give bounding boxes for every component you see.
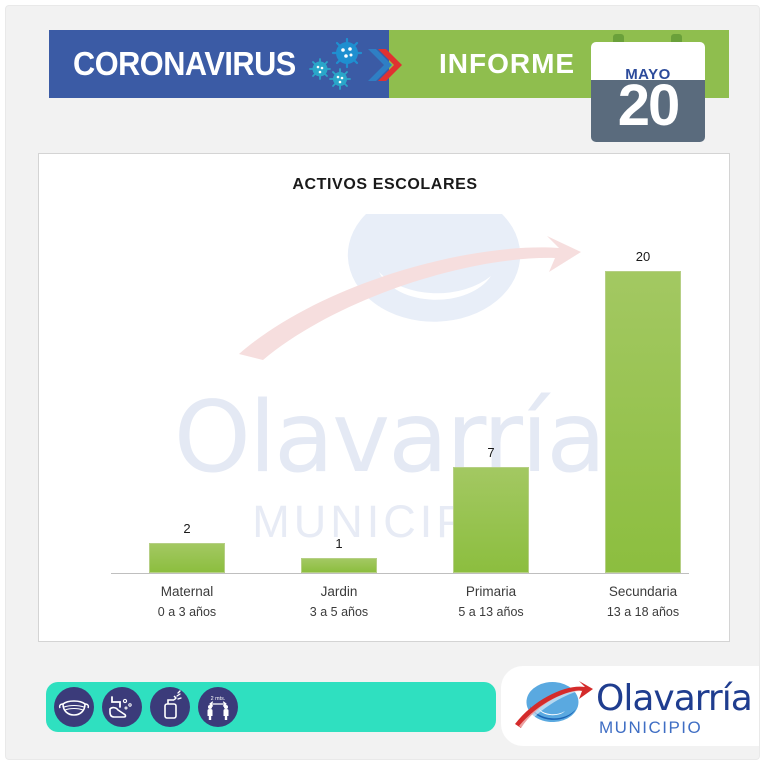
x-label-primaria-name: Primaria <box>415 582 567 602</box>
report-canvas: CORONAVIRUS <box>5 5 760 760</box>
x-label-secundaria-range: 13 a 18 años <box>567 602 719 622</box>
bar-maternal[interactable] <box>111 543 263 573</box>
bar-value-primaria: 7 <box>415 445 567 460</box>
face-mask-icon[interactable] <box>54 687 94 727</box>
x-label-secundaria: Secundaria 13 a 18 años <box>567 582 719 622</box>
logo-wordmark: Olavarría <box>596 678 752 719</box>
bar-rect-jardin[interactable] <box>301 558 377 573</box>
x-label-maternal: Maternal 0 a 3 años <box>111 582 263 622</box>
x-label-jardin-name: Jardin <box>263 582 415 602</box>
header-title-coronavirus: CORONAVIRUS <box>73 45 296 83</box>
bar-value-jardin: 1 <box>263 536 415 551</box>
x-label-secundaria-name: Secundaria <box>567 582 719 602</box>
bar-jardin[interactable] <box>263 555 415 573</box>
bar-rect-secundaria[interactable] <box>605 271 681 573</box>
x-axis-labels: Maternal 0 a 3 años Jardin 3 a 5 años Pr… <box>111 582 719 622</box>
report-image: CORONAVIRUS <box>0 0 765 765</box>
prevention-measures-bar: 2 mts. <box>46 682 496 732</box>
bar-primaria[interactable] <box>415 467 567 573</box>
hand-washing-icon[interactable] <box>102 687 142 727</box>
sanitizer-spray-icon[interactable] <box>150 687 190 727</box>
social-distance-icon[interactable]: 2 mts. <box>198 687 238 727</box>
x-label-maternal-name: Maternal <box>111 582 263 602</box>
calendar-day: 20 <box>591 75 705 137</box>
logo-subtitle: MUNICIPIO <box>599 718 702 738</box>
olavarria-logo-panel: Olavarría MUNICIPIO <box>501 666 760 746</box>
bar-value-maternal: 2 <box>111 521 263 536</box>
x-label-jardin-range: 3 a 5 años <box>263 602 415 622</box>
x-axis-line <box>111 573 689 574</box>
plot-area: 2 1 7 20 <box>79 224 689 574</box>
calendar-date-badge: MAYO 20 <box>591 34 705 142</box>
chart-panel: ACTIVOS ESCOLARES Olavarría MUNICIPIO 2 … <box>38 153 730 642</box>
calendar-body: 20 <box>591 80 705 142</box>
chart-title: ACTIVOS ESCOLARES <box>39 176 731 194</box>
x-label-primaria-range: 5 a 13 años <box>415 602 567 622</box>
bar-rect-maternal[interactable] <box>149 543 225 573</box>
bar-secundaria[interactable] <box>567 271 719 573</box>
svg-text:2 mts.: 2 mts. <box>211 696 226 702</box>
x-label-primaria: Primaria 5 a 13 años <box>415 582 567 622</box>
olavarria-swoosh-logo-icon <box>513 676 595 736</box>
x-label-jardin: Jardin 3 a 5 años <box>263 582 415 622</box>
x-label-maternal-range: 0 a 3 años <box>111 602 263 622</box>
double-chevron-right-icon <box>364 46 406 84</box>
bar-rect-primaria[interactable] <box>453 467 529 573</box>
header-title-informe: INFORME <box>439 48 575 80</box>
bar-value-secundaria: 20 <box>567 249 719 264</box>
